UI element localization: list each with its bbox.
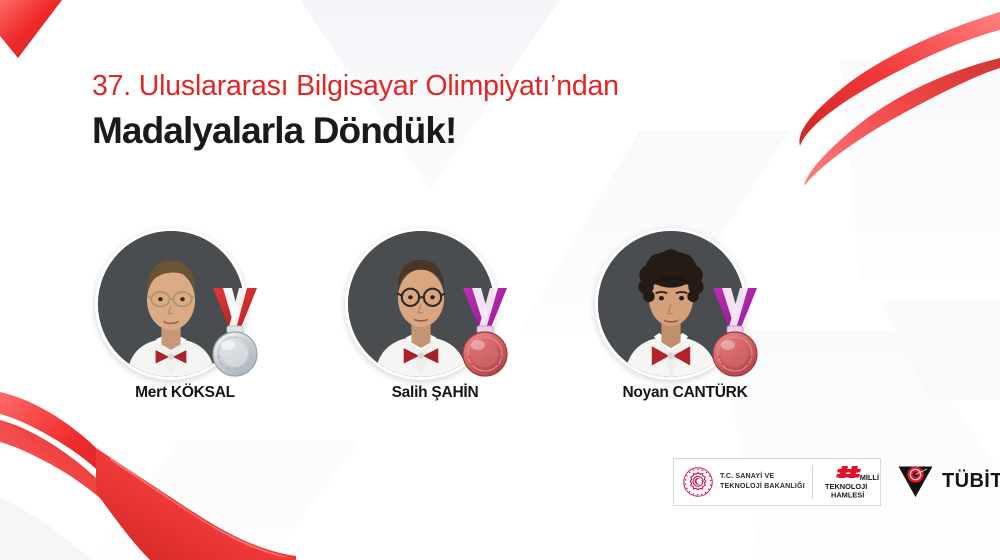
headline-title: Madalyalarla Döndük!	[92, 112, 852, 151]
student-card: Noyan CANTÜRK	[595, 228, 795, 413]
student-card: Salih ŞAHİN	[345, 228, 545, 413]
tubitak-wordmark: TÜBİTA	[942, 470, 1000, 493]
bronze-medal-icon	[449, 286, 521, 378]
ministry-logo-text: T.C. SANAYİ VE TEKNOLOJİ BAKANLIĞI	[720, 472, 805, 492]
bronze-medal-icon	[699, 286, 771, 378]
student-name: Noyan CANTÜRK	[595, 384, 775, 402]
headline-block: 37. Uluslararası Bilgisayar Olimpiyatı’n…	[92, 70, 852, 151]
svg-text:HAMLESİ: HAMLESİ	[831, 491, 864, 500]
student-list: Mert KÖKSAL	[95, 228, 815, 413]
ministry-line-2: TEKNOLOJİ BAKANLIĞI	[720, 482, 805, 492]
student-name: Mert KÖKSAL	[95, 384, 275, 402]
tubitak-triangle-mark-icon	[897, 463, 934, 499]
ministry-gear-emblem-icon	[683, 467, 713, 497]
student-name: Salih ŞAHİN	[345, 384, 525, 402]
silver-medal-icon	[199, 286, 271, 378]
milli-teknoloji-hamlesi-logo: MİLLİ TEKNOLOJİ HAMLESİ	[822, 463, 880, 501]
tubitak-logo: TÜBİTA	[897, 463, 1000, 499]
ministry-logo-card: T.C. SANAYİ VE TEKNOLOJİ BAKANLIĞI MİLLİ…	[673, 458, 881, 506]
logo-divider	[812, 465, 813, 499]
announcement-banner: 37. Uluslararası Bilgisayar Olimpiyatı’n…	[0, 0, 1000, 560]
svg-text:MİLLİ: MİLLİ	[860, 473, 879, 482]
headline-subtitle: 37. Uluslararası Bilgisayar Olimpiyatı’n…	[92, 70, 852, 103]
ministry-line-1: T.C. SANAYİ VE	[720, 472, 805, 482]
student-card: Mert KÖKSAL	[95, 228, 295, 413]
ministry-logo: T.C. SANAYİ VE TEKNOLOJİ BAKANLIĞI	[674, 467, 805, 497]
